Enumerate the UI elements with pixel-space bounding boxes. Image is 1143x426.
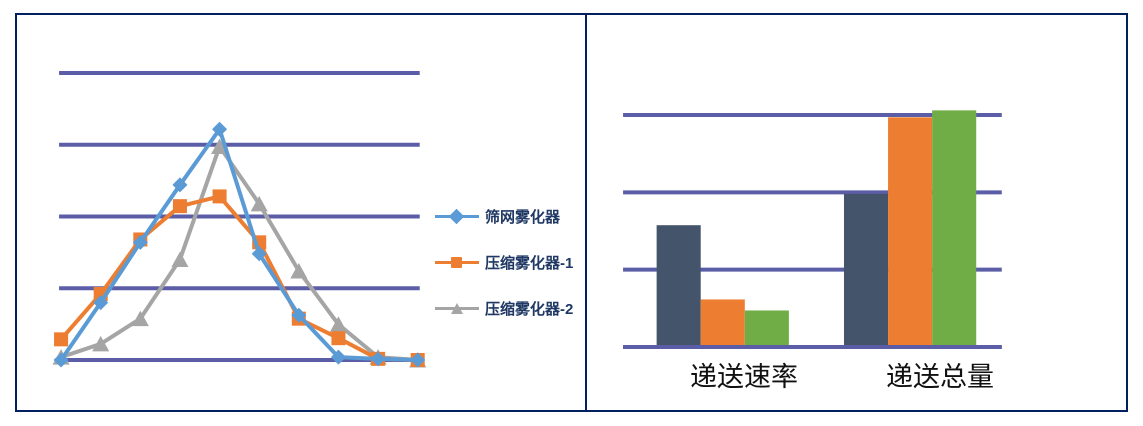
category-label-1: 递送总量 [845, 355, 1035, 394]
data-point-0[interactable] [54, 332, 68, 346]
legend-label-0: 筛网雾化器 [485, 206, 560, 227]
bar-1-0[interactable] [844, 194, 888, 347]
line-chart-panel: 筛网雾化器 压缩雾化器-1 压缩雾化器-2 [15, 13, 586, 412]
bar-chart-panel: 递送速率 递送总量 筛网雾化器 压缩雾化器-1 压缩雾化器-2 [586, 13, 1128, 412]
data-point-7[interactable] [331, 331, 345, 345]
legend-item-2[interactable]: 压缩雾化器-2 [435, 285, 585, 331]
legend-marker-0 [449, 209, 465, 225]
legend-label-2: 压缩雾化器-2 [485, 298, 573, 319]
bar-0-0[interactable] [657, 225, 701, 347]
data-point-3[interactable] [173, 199, 187, 213]
bar-chart-plot [587, 15, 1126, 410]
data-point-3[interactable] [171, 252, 188, 267]
data-point-6[interactable] [290, 263, 307, 279]
line-chart-legend: 筛网雾化器 压缩雾化器-1 压缩雾化器-2 [435, 193, 585, 331]
legend-label-1: 压缩雾化器-1 [485, 252, 573, 273]
category-label-0: 递送速率 [649, 355, 839, 394]
legend-marker-1 [451, 257, 462, 268]
line-marker-icon-0 [435, 209, 479, 223]
bar-group-0 [657, 225, 789, 347]
legend-item-1[interactable]: 压缩雾化器-1 [435, 239, 585, 285]
series-line [61, 146, 418, 360]
series-line [61, 129, 418, 360]
line-marker-icon-2 [435, 301, 479, 315]
line-series-2 [53, 138, 427, 367]
data-point-4[interactable] [213, 189, 227, 203]
line-series-0 [54, 122, 426, 368]
bar-1-1[interactable] [888, 117, 932, 347]
bar-0-2[interactable] [745, 310, 789, 347]
legend-marker-2 [451, 303, 463, 314]
bar-0-1[interactable] [701, 299, 745, 347]
bar-1-2[interactable] [932, 110, 976, 347]
legend-item-0[interactable]: 筛网雾化器 [435, 193, 585, 239]
figure-root: 筛网雾化器 压缩雾化器-1 压缩雾化器-2 递送速率 递送总量 [0, 0, 1143, 426]
bar-group-1 [844, 110, 976, 347]
line-marker-icon-1 [435, 255, 479, 269]
